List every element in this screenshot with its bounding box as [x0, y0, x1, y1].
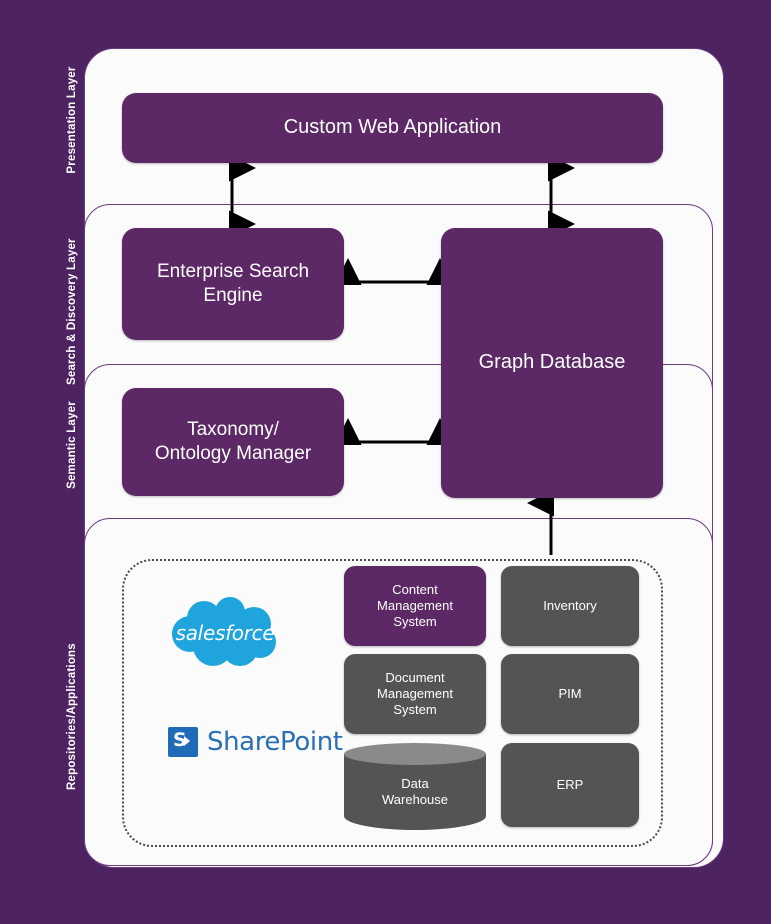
repository-tile-inventory[interactable]: Inventory	[501, 566, 639, 646]
layer-label-presentation: Presentation Layer	[66, 60, 78, 180]
layer-label-repositories: Repositories/Applications	[66, 670, 78, 790]
repository-tile-pim[interactable]: PIM	[501, 654, 639, 734]
tile-label: Data Warehouse	[344, 743, 486, 830]
node-label-line1: Taxonomy/	[187, 418, 279, 442]
tile-label-line3: System	[393, 702, 436, 718]
salesforce-wordmark: salesforce	[168, 621, 282, 645]
sharepoint-chevron-icon	[184, 736, 190, 746]
tile-label: Inventory	[543, 598, 596, 614]
node-graph-database[interactable]: Graph Database	[441, 228, 663, 498]
node-taxonomy-ontology-manager[interactable]: Taxonomy/ Ontology Manager	[122, 388, 344, 496]
layer-label-semantic: Semantic Layer	[66, 385, 78, 505]
node-enterprise-search-engine[interactable]: Enterprise Search Engine	[122, 228, 344, 340]
tile-label: PIM	[558, 686, 581, 702]
tile-label-line1: Data	[401, 776, 428, 791]
node-label-line2: Ontology Manager	[155, 442, 311, 466]
architecture-diagram: Presentation Layer Search & Discovery La…	[0, 0, 771, 924]
tile-label-line3: System	[393, 614, 436, 630]
tile-label-line2: Management	[377, 686, 453, 702]
repository-tile-cms[interactable]: Content Management System	[344, 566, 486, 646]
node-label-line2: Engine	[203, 284, 262, 308]
tile-label: ERP	[557, 777, 584, 793]
tile-label-line2: Management	[377, 598, 453, 614]
layer-label-search-discovery: Search & Discovery Layer	[66, 265, 78, 385]
node-label: Custom Web Application	[284, 115, 502, 141]
tile-label-line1: Document	[385, 670, 444, 686]
repository-tile-data-warehouse[interactable]: Data Warehouse	[344, 743, 486, 830]
tile-label-line2: Warehouse	[382, 792, 448, 807]
node-label: Graph Database	[479, 350, 626, 376]
sharepoint-mark-icon: S	[168, 727, 198, 757]
sharepoint-wordmark: SharePoint	[207, 727, 343, 757]
repository-tile-erp[interactable]: ERP	[501, 743, 639, 827]
node-label-line1: Enterprise Search	[157, 260, 309, 284]
salesforce-logo: salesforce	[168, 596, 282, 670]
tile-label-line1: Content	[392, 582, 438, 598]
node-custom-web-application[interactable]: Custom Web Application	[122, 93, 663, 163]
repository-tile-dms[interactable]: Document Management System	[344, 654, 486, 734]
sharepoint-logo: S SharePoint	[168, 727, 343, 757]
